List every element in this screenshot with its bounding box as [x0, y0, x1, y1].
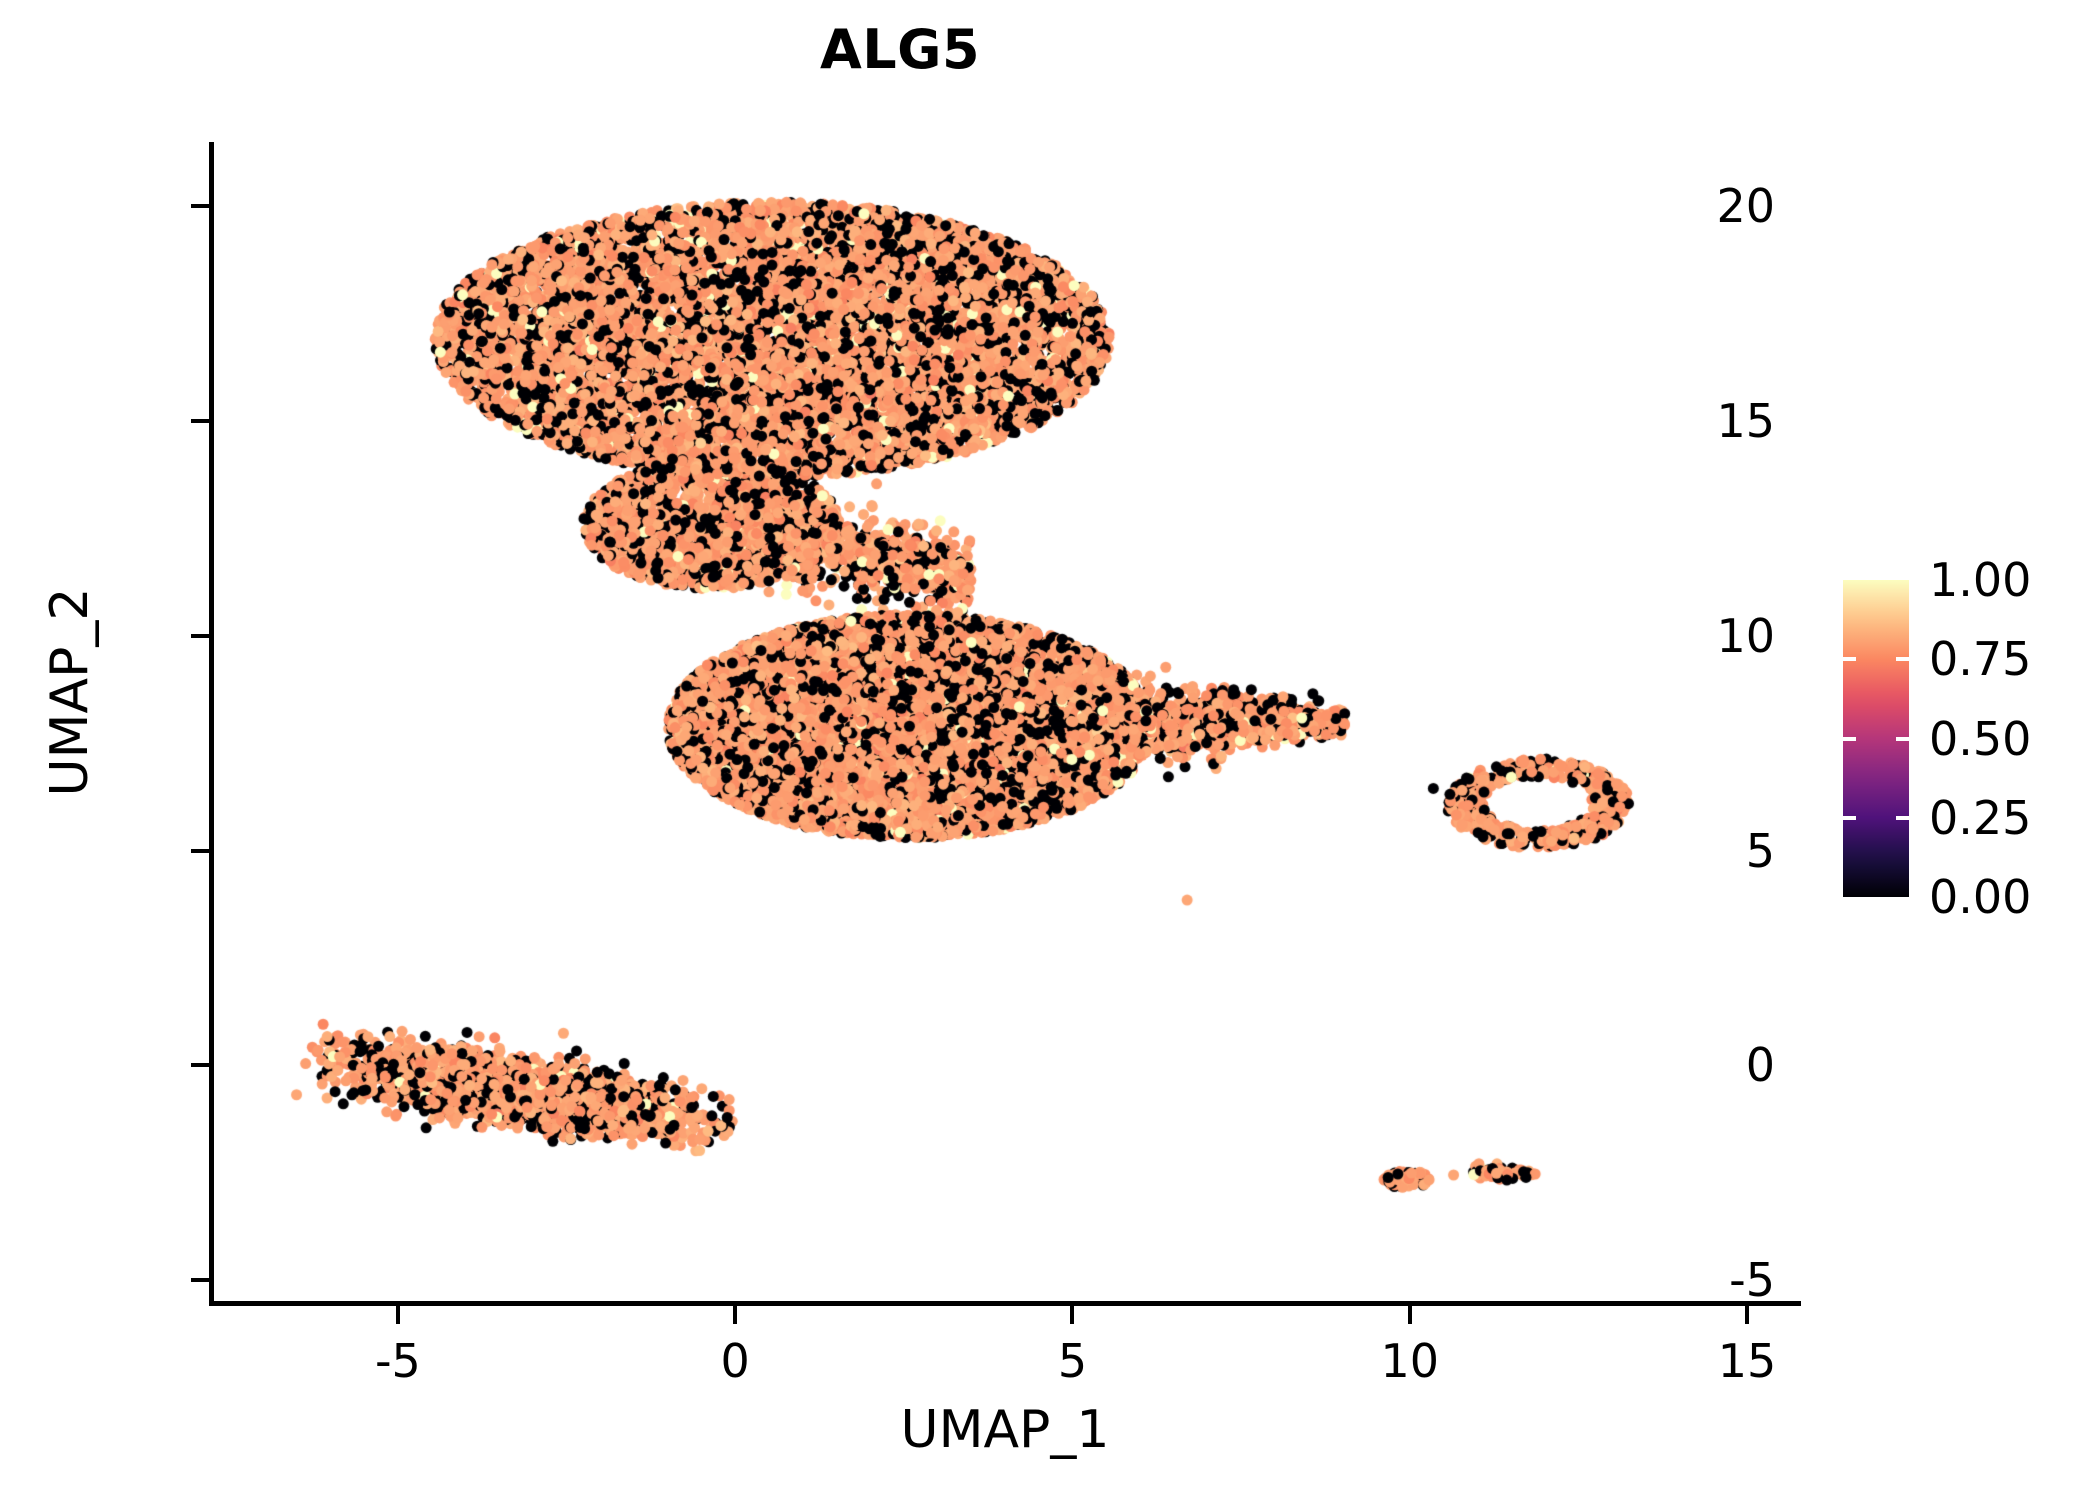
colorbar-tick-mark: [1896, 657, 1909, 661]
colorbar-legend: 1.000.750.500.250.00: [1843, 580, 2093, 900]
y-tick-label: 5: [1746, 824, 1775, 878]
colorbar-tick-mark: [1896, 816, 1909, 820]
y-tick-mark: [191, 1063, 209, 1067]
y-tick-label: -5: [1729, 1253, 1775, 1307]
colorbar-tick-label: 0.50: [1929, 712, 2031, 766]
colorbar-tick-mark: [1843, 816, 1856, 820]
plot-axes-area: 20151050-5 -5051015: [209, 142, 1801, 1306]
x-tick-mark: [1745, 1306, 1749, 1324]
colorbar-tick-label: 1.00: [1929, 553, 2031, 607]
y-tick-mark: [191, 419, 209, 423]
x-tick-label: -5: [375, 1334, 421, 1388]
y-tick-label: 0: [1746, 1038, 1775, 1092]
x-tick-mark: [1408, 1306, 1412, 1324]
umap-feature-plot: ALG5 20151050-5 -5051015 UMAP_1 UMAP_2 1…: [0, 0, 2100, 1500]
y-tick-label: 20: [1716, 179, 1775, 233]
x-tick-label: 10: [1380, 1334, 1439, 1388]
colorbar-tick-mark: [1896, 737, 1909, 741]
x-tick-label: 15: [1718, 1334, 1777, 1388]
y-tick-mark: [191, 849, 209, 853]
y-tick-mark: [191, 1278, 209, 1282]
page-title: ALG5: [0, 20, 1800, 79]
y-axis-label: UMAP_2: [40, 292, 100, 1092]
y-tick-label: 15: [1716, 394, 1775, 448]
scatter-plot-canvas: [209, 142, 1801, 1306]
x-tick-label: 0: [721, 1334, 750, 1388]
x-axis-spine: [209, 1301, 1801, 1306]
y-tick-mark: [191, 204, 209, 208]
colorbar-tick-mark: [1843, 657, 1856, 661]
x-axis-label: UMAP_1: [209, 1400, 1801, 1460]
y-axis-spine: [209, 142, 214, 1306]
colorbar-tick-label: 0.00: [1929, 870, 2031, 924]
x-tick-label: 5: [1058, 1334, 1087, 1388]
colorbar-tick-label: 0.25: [1929, 791, 2031, 845]
x-tick-mark: [733, 1306, 737, 1324]
y-tick-mark: [191, 634, 209, 638]
colorbar-tick-label: 0.75: [1929, 632, 2031, 686]
colorbar-tick-mark: [1843, 737, 1856, 741]
x-tick-mark: [1070, 1306, 1074, 1324]
y-tick-label: 10: [1716, 609, 1775, 663]
x-tick-mark: [396, 1306, 400, 1324]
